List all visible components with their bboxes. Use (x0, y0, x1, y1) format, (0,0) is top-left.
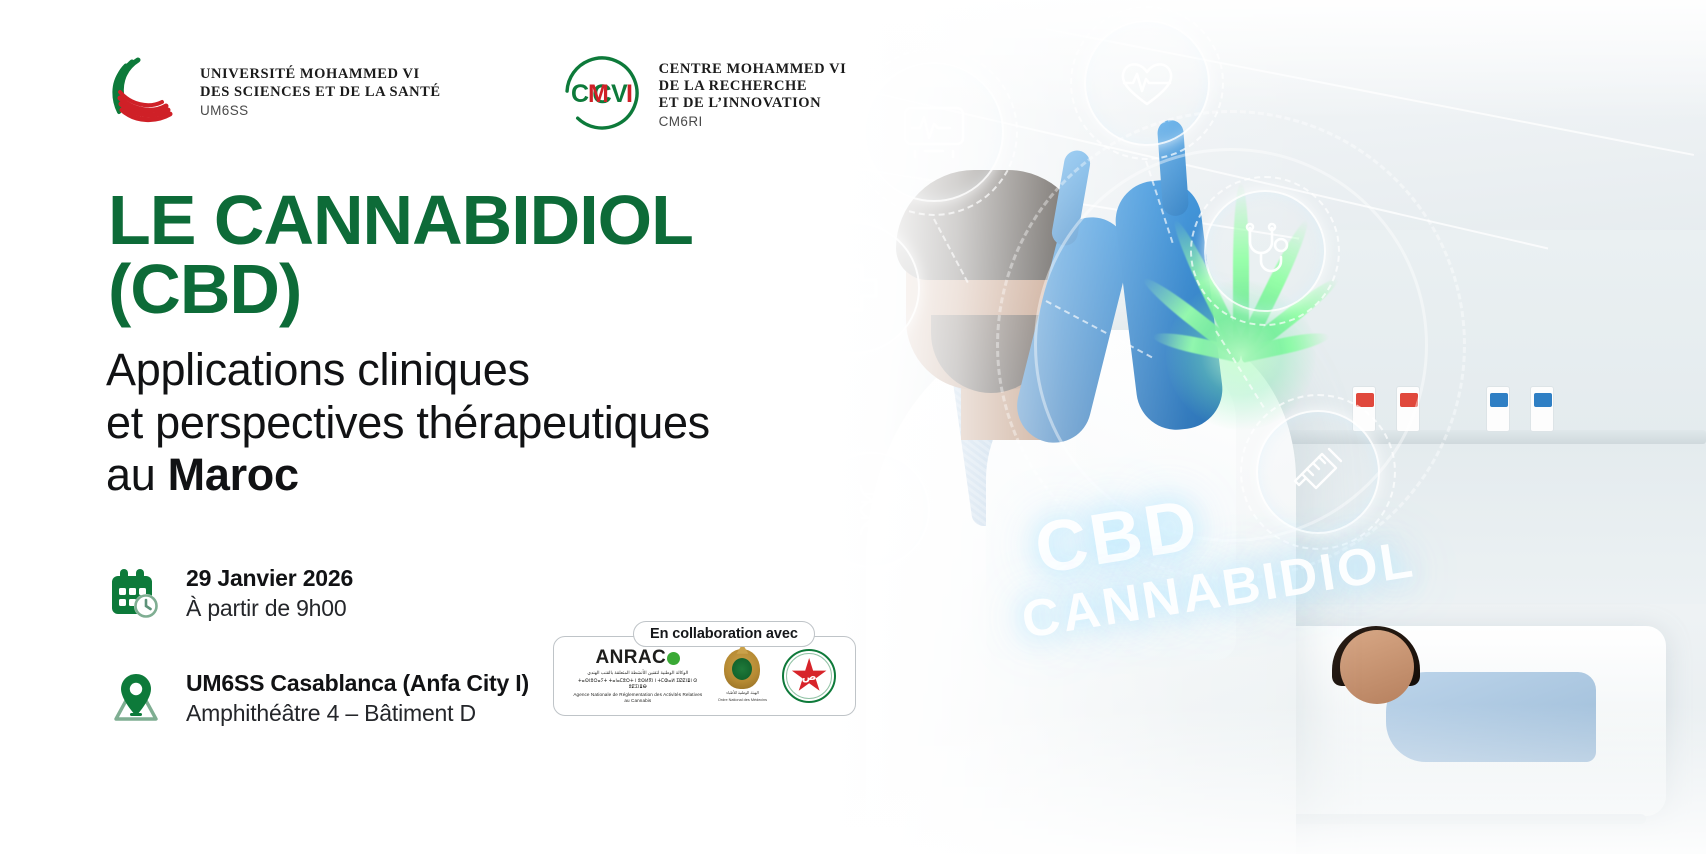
svg-text:I: I (626, 80, 633, 108)
anrac-dot-icon (667, 652, 680, 665)
um6ss-line-2: DES SCIENCES ET DE LA SANTÉ (200, 84, 441, 101)
subtitle-line-2: et perspectives thérapeutiques (106, 397, 710, 450)
event-details: 29 Janvier 2026 À partir de 9h00 UM6SS C… (108, 565, 529, 775)
svg-text:C: C (571, 80, 589, 108)
um6ss-wordmark: UNIVERSITÉ MOHAMMED VI DES SCIENCES ET D… (200, 66, 441, 118)
cm6ri-wordmark: CENTRE MOHAMMED VI DE LA RECHERCHE ET DE… (659, 61, 847, 130)
logo-um6ss: UNIVERSITÉ MOHAMMED VI DES SCIENCES ET D… (108, 52, 441, 133)
subtitle-line-3: au Maroc (106, 449, 710, 502)
partner-ordre-pharmaciens: ص (782, 649, 836, 703)
event-venue-text: UM6SS Casablanca (Anfa City I) Amphithéâ… (186, 670, 529, 727)
anrac-french: Agence Nationale de Réglementation des A… (573, 692, 703, 704)
event-date: 29 Janvier 2026 (186, 565, 353, 592)
page-subtitle: Applications cliniques et perspectives t… (106, 344, 710, 502)
logo-cm6ri: C M C M V I CENTRE MOHAMMED VI DE LA REC… (561, 52, 847, 139)
cm6ri-line-2: DE LA RECHERCHE (659, 78, 847, 95)
event-date-text: 29 Janvier 2026 À partir de 9h00 (186, 565, 353, 622)
title-line-1: LE CANNABIDIOL (108, 181, 693, 259)
subtitle-line-1: Applications cliniques (106, 344, 710, 397)
event-poster: CBD CANNABIDIOL (0, 0, 1706, 854)
anrac-tifinagh: ⵜⴰⵙⵏⵓⵔⴰⵢⵜ ⵜⴰⵏⴰⵎⵓⵔⵜ ⵏ ⵓⵙⵍⴳⵏ ⵏ ⵜⵎⵀⴰⵍ ⵉⵇⵇⵏⴻ… (573, 678, 703, 690)
collaboration-badge: En collaboration avec (633, 621, 815, 647)
pharm-seal-glyph: ص (802, 670, 817, 683)
cm6ri-acronym: CM6RI (659, 114, 847, 130)
subtitle-line-3-prefix: au (106, 449, 168, 500)
collaboration-card: ANRAC الوكالة الوطنية لتقنين الأنشطة الم… (553, 636, 856, 716)
event-time: À partir de 9h00 (186, 595, 353, 622)
anrac-text: ANRAC (596, 648, 667, 667)
um6ss-swoosh-icon (108, 52, 184, 133)
logo-bar: UNIVERSITÉ MOHAMMED VI DES SCIENCES ET D… (108, 52, 846, 139)
partner-anrac: ANRAC الوكالة الوطنية لتقنين الأنشطة الم… (573, 648, 703, 705)
ordre-french: Ordre National des Médecins (716, 698, 768, 703)
event-venue: UM6SS Casablanca (Anfa City I) (186, 670, 529, 697)
title-line-2: (CBD) (108, 255, 693, 324)
map-pin-icon (108, 671, 164, 727)
cm6ri-line-3: ET DE L’INNOVATION (659, 95, 847, 112)
event-date-row: 29 Janvier 2026 À partir de 9h00 (108, 565, 529, 622)
partner-ordre-medecins: الهيئة الوطنية للأطباء Ordre National de… (716, 649, 768, 704)
anrac-wordmark: ANRAC (596, 648, 681, 667)
subtitle-line-3-strong: Maroc (168, 449, 299, 500)
event-room: Amphithéâtre 4 – Bâtiment D (186, 700, 529, 727)
svg-text:M: M (588, 80, 609, 108)
anrac-arabic: الوكالة الوطنية لتقنين الأنشطة المتعلقة … (573, 670, 703, 676)
ordre-arabic: الهيئة الوطنية للأطباء (716, 691, 768, 696)
moroccan-royal-emblem-icon (724, 649, 760, 689)
cmvi-circle-icon: C M C M V I (561, 52, 643, 139)
page-title: LE CANNABIDIOL (CBD) (108, 186, 693, 323)
event-venue-row: UM6SS Casablanca (Anfa City I) Amphithéâ… (108, 670, 529, 727)
calendar-clock-icon (108, 566, 164, 622)
poster-content: UNIVERSITÉ MOHAMMED VI DES SCIENCES ET D… (0, 0, 960, 854)
um6ss-acronym: UM6SS (200, 103, 441, 119)
um6ss-line-1: UNIVERSITÉ MOHAMMED VI (200, 66, 441, 83)
cm6ri-line-1: CENTRE MOHAMMED VI (659, 61, 847, 78)
